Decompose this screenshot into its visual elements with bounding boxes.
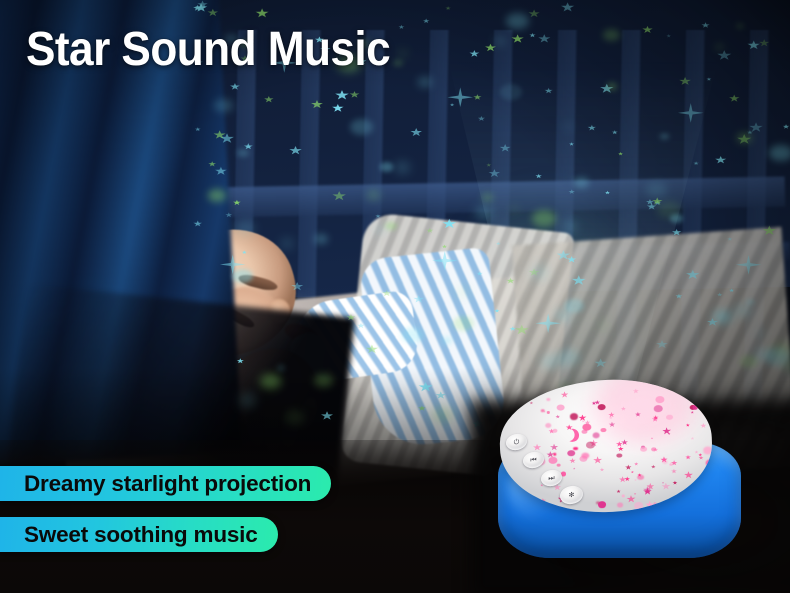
dome-star xyxy=(557,404,565,410)
dome-star xyxy=(634,493,637,495)
feature-pill-starlight: Dreamy starlight projection xyxy=(0,466,331,501)
dome-star xyxy=(569,458,576,464)
dome-star xyxy=(547,411,550,414)
product-banner: ⏻ ⏮ ⏭ ✻ Star Sound Music Dreamy starligh… xyxy=(0,0,790,593)
dome-star xyxy=(672,481,677,486)
dome-star xyxy=(552,428,557,432)
dome-star xyxy=(616,489,620,493)
star-projector-device[interactable]: ⏻ ⏮ ⏭ ✻ xyxy=(492,378,747,578)
page-title: Star Sound Music xyxy=(26,22,390,77)
crescent-moon-icon xyxy=(560,426,577,443)
feature-pill-label: Sweet soothing music xyxy=(24,522,258,548)
dome-star xyxy=(555,414,560,418)
feature-pill-label: Dreamy starlight projection xyxy=(24,471,311,497)
dome-star xyxy=(598,501,607,508)
dome-star xyxy=(634,502,644,510)
dome-star xyxy=(703,446,713,454)
dome-star xyxy=(637,475,644,480)
dome-star xyxy=(550,443,559,450)
dome-glow xyxy=(574,376,715,480)
light-mode-icon: ✻ xyxy=(568,491,574,498)
dome-star xyxy=(567,450,575,457)
power-icon: ⏻ xyxy=(514,438,520,445)
dome-star xyxy=(533,444,542,452)
dome-star xyxy=(692,405,698,410)
dome-star xyxy=(654,405,663,412)
dome-star xyxy=(540,409,544,412)
dome-star xyxy=(545,423,552,428)
dome-star xyxy=(581,453,589,459)
dome-star xyxy=(617,503,623,508)
dome-star xyxy=(573,467,576,469)
previous-track-icon: ⏮ xyxy=(530,456,537,463)
next-track-icon: ⏭ xyxy=(548,474,555,481)
dome-star xyxy=(546,397,550,400)
dome-star xyxy=(553,453,557,456)
dome-star xyxy=(556,464,560,468)
dome-star xyxy=(661,482,670,490)
dome-star xyxy=(570,413,578,420)
dome-star xyxy=(529,401,533,405)
dome-star xyxy=(622,495,625,497)
feature-pill-music: Sweet soothing music xyxy=(0,517,278,552)
dome-star xyxy=(655,396,664,404)
dome-star xyxy=(532,391,536,394)
dome-star xyxy=(634,479,637,482)
dome-star xyxy=(560,391,568,398)
dome-star xyxy=(617,453,622,457)
feature-list: Dreamy starlight projection Sweet soothi… xyxy=(0,466,331,552)
dome-star xyxy=(662,482,665,484)
